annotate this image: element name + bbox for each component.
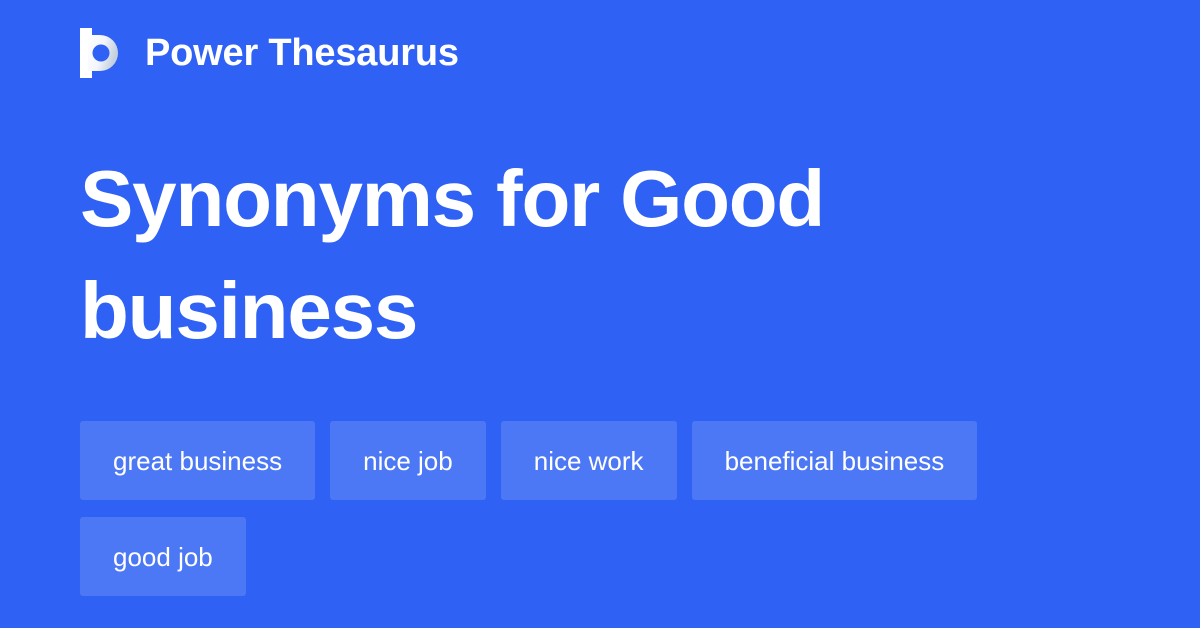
synonym-chip[interactable]: nice work [501, 421, 677, 500]
synonym-chip-list: great business nice job nice work benefi… [80, 421, 1140, 596]
synonym-chip[interactable]: nice job [330, 421, 486, 500]
power-thesaurus-logo-icon [80, 28, 126, 78]
synonym-chip[interactable]: great business [80, 421, 315, 500]
brand-name: Power Thesaurus [145, 34, 459, 72]
synonym-chip[interactable]: good job [80, 517, 246, 596]
brand-header[interactable]: Power Thesaurus [80, 28, 459, 78]
page-title: Synonyms for Good business [80, 143, 1120, 367]
share-card: Power Thesaurus Synonyms for Good busine… [0, 0, 1200, 628]
synonym-chip[interactable]: beneficial business [692, 421, 978, 500]
